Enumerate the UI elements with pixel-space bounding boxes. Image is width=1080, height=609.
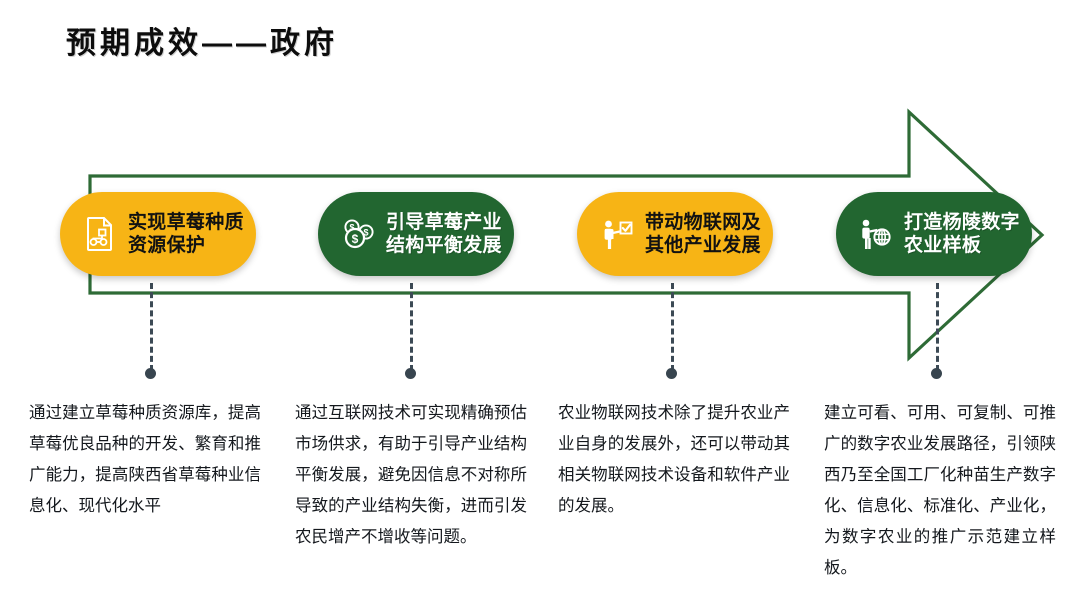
step-pill-3[interactable]: 带动物联网及 其他产业发展 — [577, 192, 773, 276]
step-pill-2[interactable]: $ $ $ 引导草莓产业 结构平衡发展 — [318, 192, 514, 276]
svg-text:$: $ — [352, 232, 359, 246]
step-pill-4[interactable]: 打造杨陵数字 农业样板 — [836, 192, 1032, 276]
connector-dot-1 — [145, 368, 156, 379]
coins-money-icon: $ $ $ — [338, 212, 378, 256]
step-description-1: 通过建立草莓种质资源库，提高草莓优良品种的开发、繁育和推广能力，提高陕西省草莓种… — [29, 398, 261, 522]
step-pill-label-2: 引导草莓产业 结构平衡发展 — [386, 211, 502, 257]
connector-dot-4 — [931, 368, 942, 379]
connector-line-2 — [410, 283, 413, 371]
document-flowchart-icon — [80, 212, 120, 256]
step-description-4: 建立可看、可用、可复制、可推广的数字农业发展路径，引领陕西乃至全国工厂化种苗生产… — [824, 398, 1056, 584]
page-title: 预期成效——政府 — [66, 18, 338, 62]
step-pill-1[interactable]: 实现草莓种质 资源保护 — [60, 192, 256, 276]
person-globe-icon — [856, 212, 896, 256]
step-description-3: 农业物联网技术除了提升农业产业自身的发展外，还可以带动其相关物联网技术设备和软件… — [558, 398, 790, 522]
person-checklist-icon — [597, 212, 637, 256]
connector-line-4 — [936, 283, 939, 371]
connector-dot-3 — [666, 368, 677, 379]
step-pill-label-3: 带动物联网及 其他产业发展 — [645, 211, 761, 257]
connector-dot-2 — [405, 368, 416, 379]
step-pill-label-1: 实现草莓种质 资源保护 — [128, 211, 244, 257]
step-pill-label-4: 打造杨陵数字 农业样板 — [904, 211, 1020, 257]
step-description-2: 通过互联网技术可实现精确预估市场供求，有助于引导产业结构平衡发展，避免因信息不对… — [295, 398, 527, 553]
connector-line-1 — [150, 283, 153, 371]
connector-line-3 — [671, 283, 674, 371]
